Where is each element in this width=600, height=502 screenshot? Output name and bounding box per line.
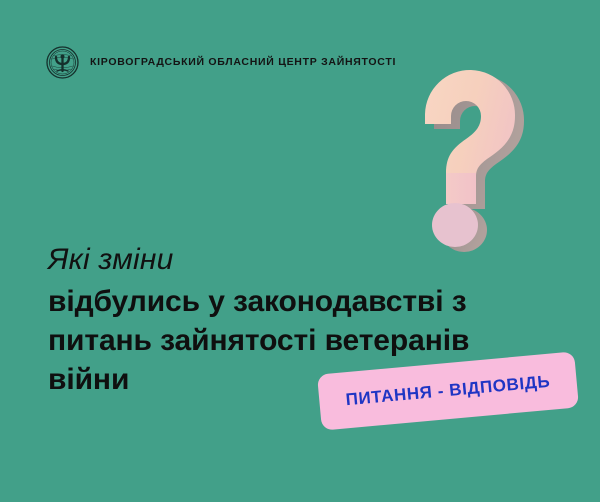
header: КІРОВОГРАДСЬКИЙ ОБЛАСНИЙ ЦЕНТР ЗАЙНЯТОСТ… — [46, 46, 396, 79]
employment-center-emblem-icon — [46, 46, 79, 79]
question-mark-icon — [392, 68, 552, 253]
organisation-name: КІРОВОГРАДСЬКИЙ ОБЛАСНИЙ ЦЕНТР ЗАЙНЯТОСТ… — [90, 57, 396, 68]
badge-label: ПИТАННЯ - ВІДПОВІДЬ — [345, 372, 551, 411]
headline-lead: Які зміни — [48, 241, 568, 279]
headline-line-2: питань зайнятості ветеранів — [48, 321, 568, 360]
headline-line-1: відбулись у законодавстві з — [48, 282, 568, 321]
poster-canvas: КІРОВОГРАДСЬКИЙ ОБЛАСНИЙ ЦЕНТР ЗАЙНЯТОСТ… — [0, 0, 600, 502]
